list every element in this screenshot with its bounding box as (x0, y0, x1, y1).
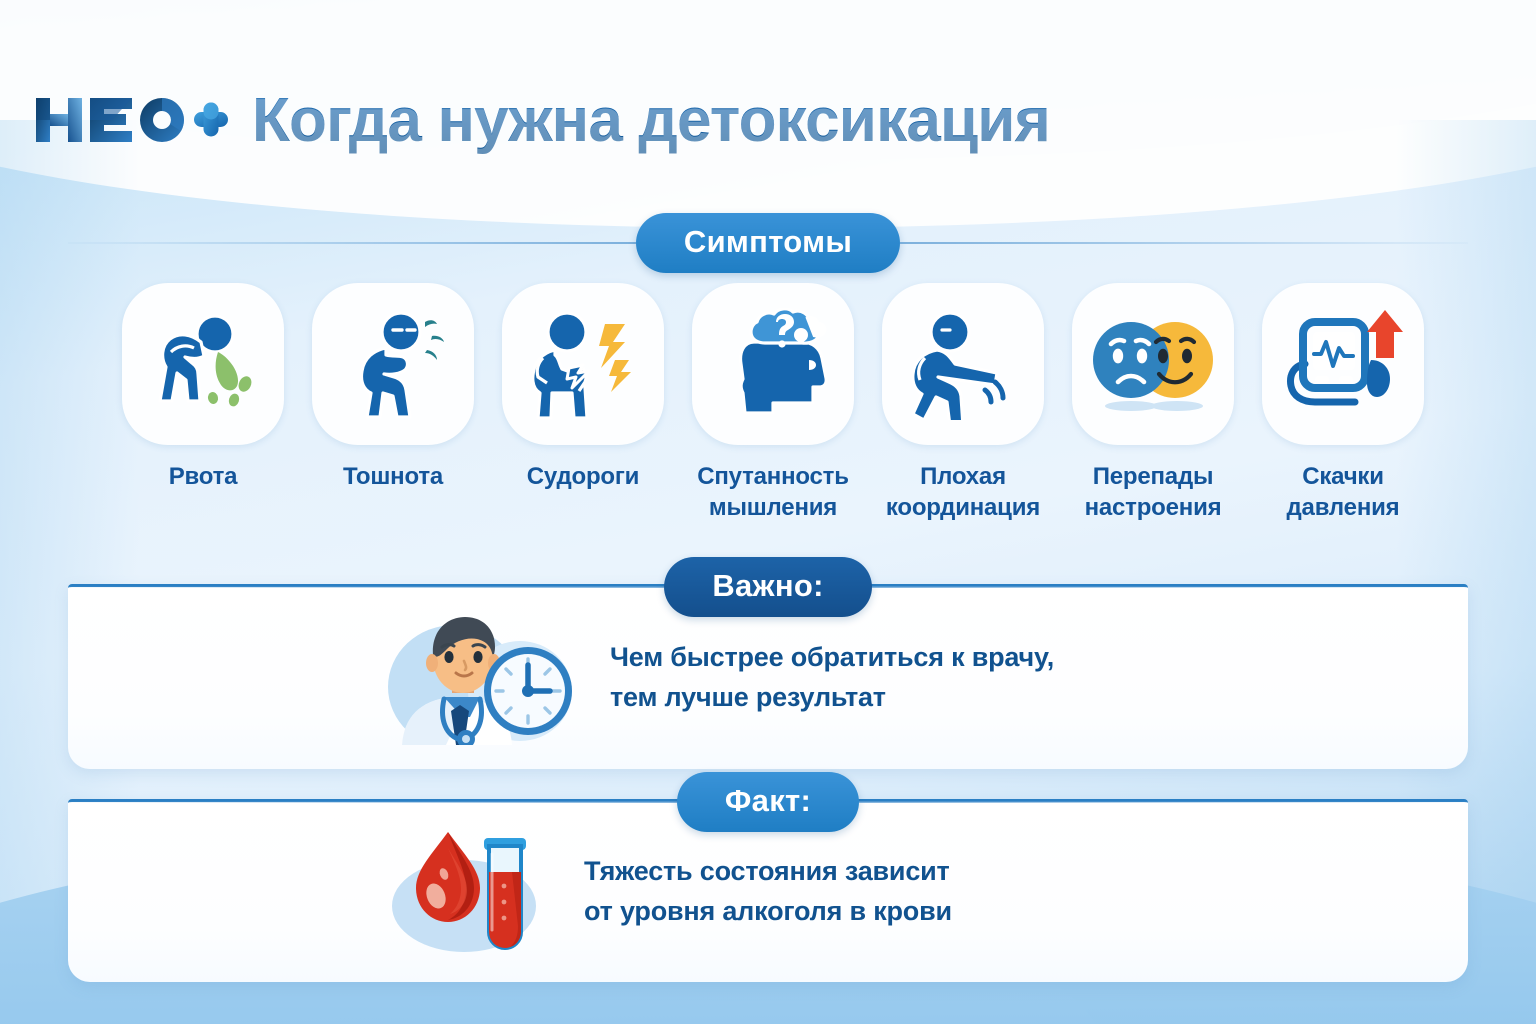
symptom-label: Перепады настроения (1068, 462, 1238, 523)
symptom-item-coordination[interactable]: Плохая координация (878, 283, 1048, 523)
symptom-label: Судороги (527, 462, 639, 493)
symptom-item-vomiting[interactable]: Рвота (118, 283, 288, 523)
important-text: Чем быстрее обратиться к врачу, тем лучш… (610, 637, 1054, 718)
person-stumbling-icon (901, 308, 1025, 420)
symptom-card (312, 283, 474, 445)
doctor-with-clock-illustration (368, 609, 584, 745)
divider-right (872, 586, 1468, 588)
badge-symptoms: Симптомы (636, 213, 900, 273)
badge-important: Важно: (664, 557, 871, 617)
divider-left (68, 586, 664, 588)
person-vomiting-icon (141, 308, 265, 420)
person-seizure-lightning-icon (521, 308, 645, 420)
symptom-item-blood-pressure[interactable]: Скачки давления (1258, 283, 1428, 523)
symptom-card (882, 283, 1044, 445)
symptom-item-confusion[interactable]: Спутанность мышления (688, 283, 858, 523)
symptom-card (1072, 283, 1234, 445)
fact-section-header: Факт: (68, 772, 1468, 832)
symptom-card (1262, 283, 1424, 445)
poster-header: Когда нужна детоксикация (0, 72, 1536, 168)
page-title: Когда нужна детоксикация (252, 85, 1050, 156)
symptom-card (122, 283, 284, 445)
symptom-label: Тошнота (343, 462, 443, 493)
head-thought-cloud-question-icon (711, 308, 835, 420)
symptom-label: Скачки давления (1258, 462, 1428, 523)
blood-pressure-monitor-up-arrow-icon (1281, 308, 1405, 420)
person-nausea-icon (331, 308, 455, 420)
divider-right (859, 801, 1468, 803)
symptom-item-mood-swings[interactable]: Перепады настроения (1068, 283, 1238, 523)
symptom-card (502, 283, 664, 445)
infographic-poster: Когда нужна детоксикация Симптомы (0, 0, 1536, 1024)
divider-left (68, 242, 636, 244)
symptom-item-nausea[interactable]: Тошнота (308, 283, 478, 523)
symptom-label: Спутанность мышления (688, 462, 858, 523)
neo-plus-logo (34, 87, 230, 153)
symptoms-list: Рвота (118, 283, 1428, 523)
divider-right (900, 242, 1468, 244)
symptom-label: Рвота (169, 462, 238, 493)
symptom-item-seizures[interactable]: Судороги (498, 283, 668, 523)
blood-drop-test-tube-illustration (386, 824, 558, 958)
divider-left (68, 801, 677, 803)
badge-fact: Факт: (677, 772, 859, 832)
important-section-header: Важно: (68, 557, 1468, 617)
fact-text: Тяжесть состояния зависит от уровня алко… (584, 851, 952, 932)
symptom-label: Плохая координация (878, 462, 1048, 523)
symptom-card (692, 283, 854, 445)
sad-happy-faces-icon (1091, 308, 1215, 420)
symptoms-section-header: Симптомы (68, 213, 1468, 273)
